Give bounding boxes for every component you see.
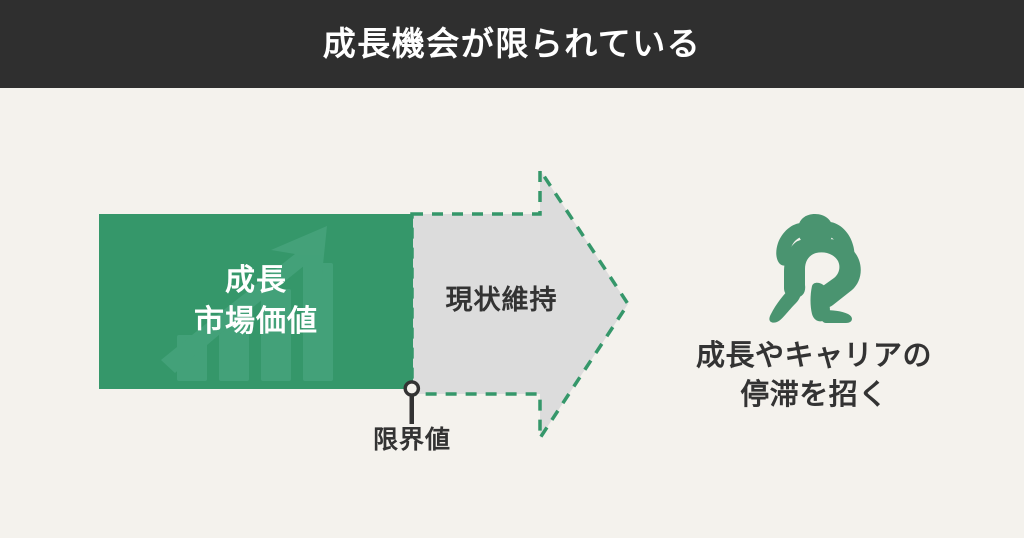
diagram-canvas: 現状維持 成長 市場価値 限界値 [0,88,1024,538]
slide-root: 成長機会が限られている 現状維持 成長 市場価値 [0,0,1024,538]
consequence-text: 成長やキャリアの 停滞を招く [624,337,1004,415]
plateau-arrow-label: 現状維持 [414,278,589,317]
pin-circle-marker-icon [398,378,426,426]
consequence-line-2: 停滞を招く [624,376,1004,415]
limit-marker-icon [398,378,426,426]
growth-bar-chart-arrow-icon [99,214,413,389]
title-bar: 成長機会が限られている [0,0,1024,88]
frustrated-person-glyph [762,214,870,324]
growth-block [99,214,413,389]
page-title: 成長機会が限られている [0,0,1024,88]
limit-marker-label: 限界値 [337,420,487,456]
consequence-line-1: 成長やキャリアの [624,337,1004,376]
frustrated-person-icon [762,214,870,324]
